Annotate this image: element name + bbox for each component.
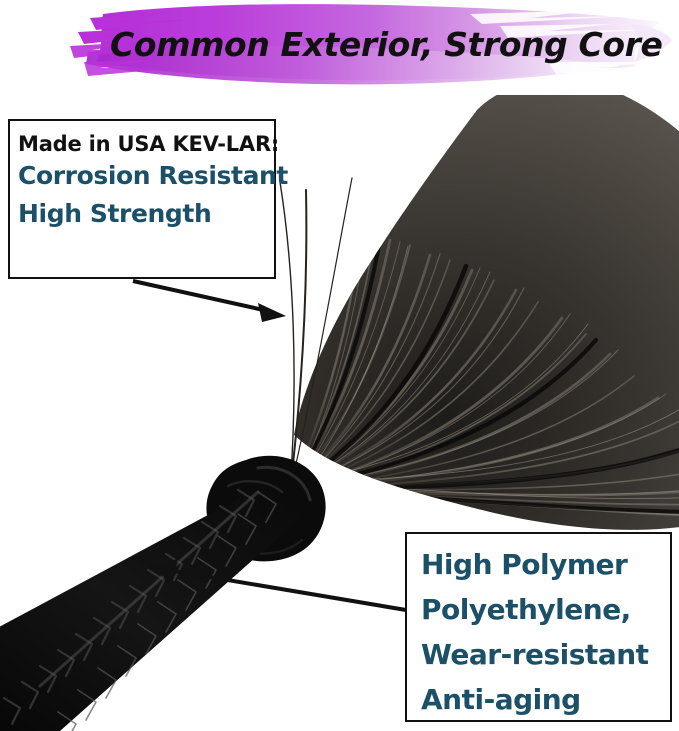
callout-right-line-1: High Polymer [421,542,664,587]
callout-box-kevlar: Made in USA KEV-LAR: Corrosion Resistant… [8,119,276,279]
callout-box-polymer: High Polymer Polyethylene, Wear-resistan… [405,532,672,722]
callout-left-line-1: Corrosion Resistant [18,157,266,195]
infographic-page: Common Exterior, Strong Core Made in USA… [0,0,679,731]
callout-right-line-4: Anti-aging [421,677,664,722]
header-banner: Common Exterior, Strong Core [0,0,679,95]
callout-right-line-2: Polyethylene, [421,587,664,632]
callout-right-line-3: Wear-resistant [421,632,664,677]
page-title: Common Exterior, Strong Core [110,25,670,65]
callout-left-line-2: High Strength [18,195,266,233]
callout-left-heading: Made in USA KEV-LAR: [18,131,266,157]
